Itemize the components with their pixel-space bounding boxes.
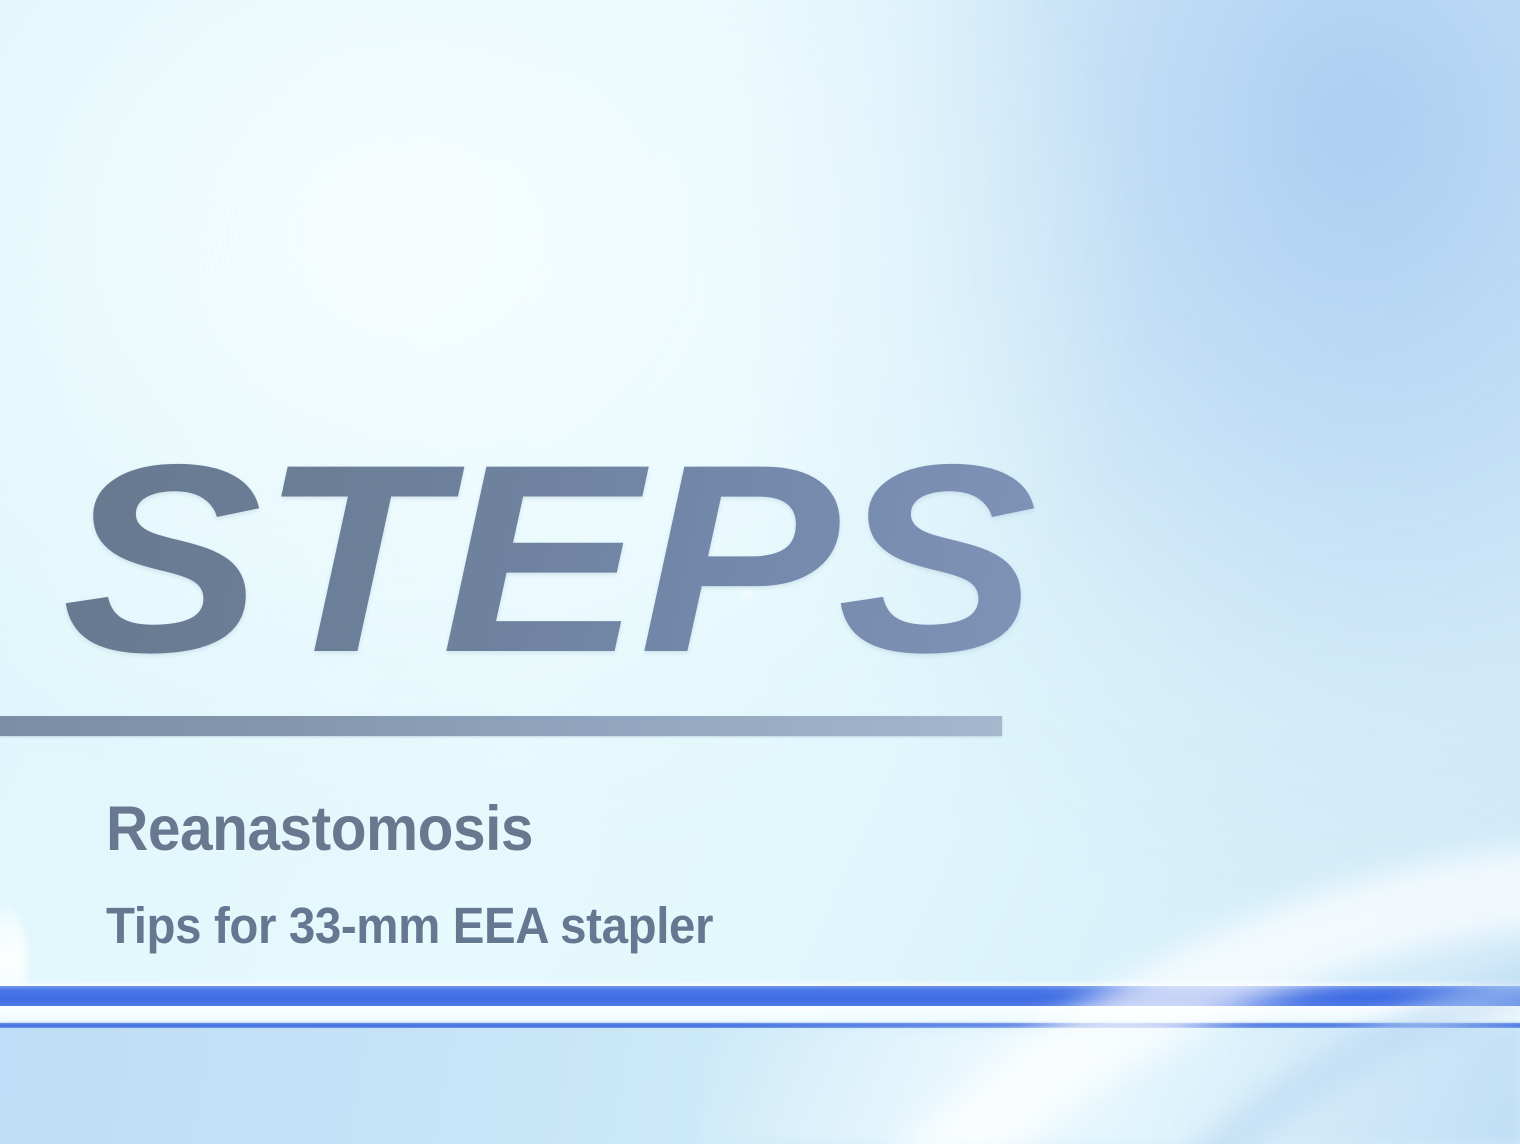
subject-heading: Reanastomosis bbox=[106, 798, 533, 861]
title-slide: STEPS Reanastomosis Tips for 33-mm EEA s… bbox=[0, 0, 1520, 1144]
subject-subheading: Tips for 33-mm EEA stapler bbox=[106, 900, 713, 951]
title-divider bbox=[0, 716, 1002, 736]
page-title: STEPS bbox=[62, 424, 1035, 692]
